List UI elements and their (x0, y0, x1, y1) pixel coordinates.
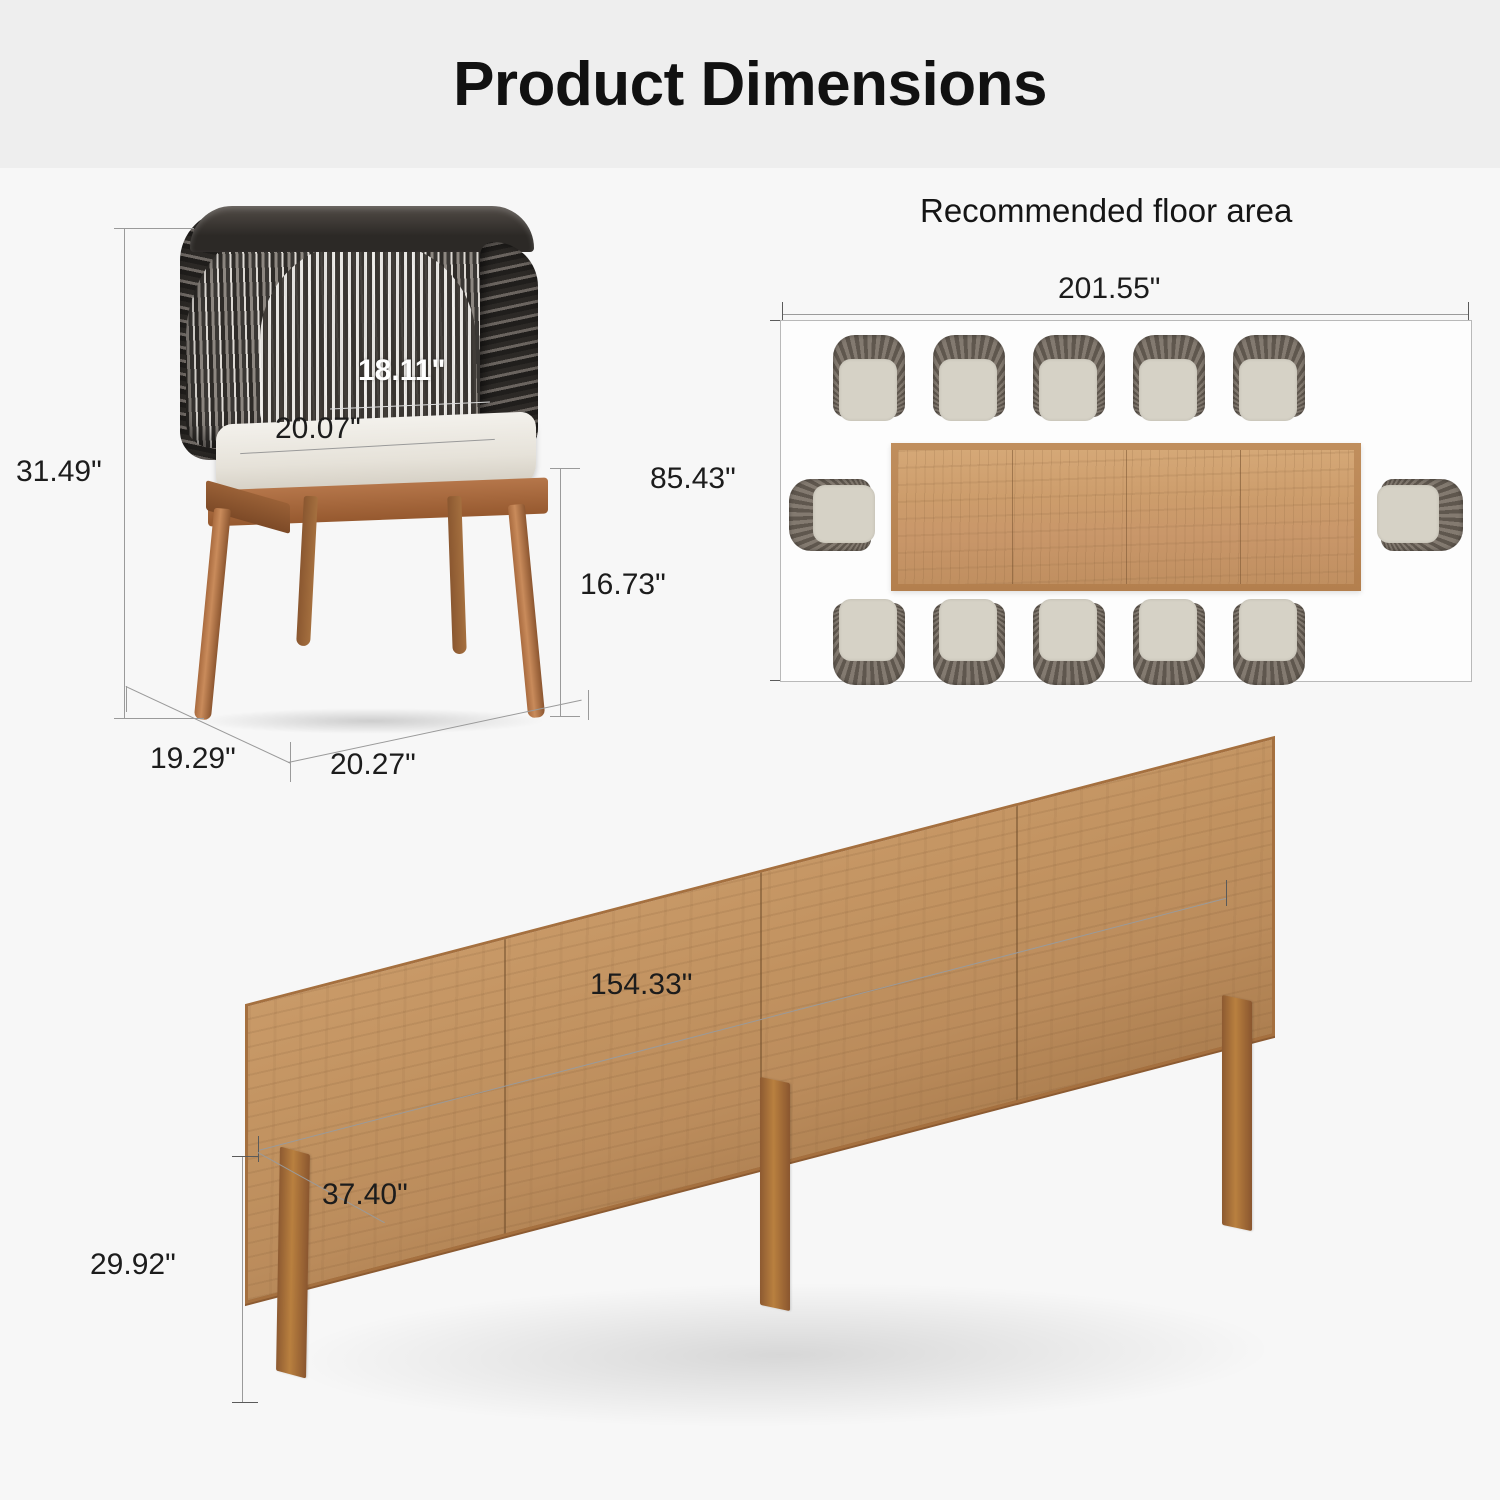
floor-chair-seat (1139, 599, 1197, 661)
floor-chair-seat (939, 599, 997, 661)
floor-area-plan (780, 320, 1472, 682)
floor-table-seam (1012, 450, 1013, 584)
floor-chair-left-1 (789, 479, 871, 551)
floor-width-label: 201.55" (1058, 272, 1160, 306)
chair-depth-label: 19.29" (150, 742, 236, 776)
floor-table-seam (1126, 450, 1127, 584)
table-leg-front-left (276, 1147, 310, 1379)
chair-footprint-right-tick (588, 690, 589, 720)
floor-chair-seat (1239, 359, 1297, 421)
floor-chair-right-1 (1381, 479, 1463, 551)
floor-chair-seat (1039, 359, 1097, 421)
floor-chair-top-3 (1033, 335, 1105, 417)
chair-leg-front-right (508, 504, 545, 719)
chair-seat-width-label: 20.07" (275, 412, 361, 446)
floor-chair-seat (839, 359, 897, 421)
chair-seat-height-tick-bottom (550, 716, 580, 717)
table-height-dimline (242, 1156, 243, 1402)
floor-table-top (891, 443, 1361, 591)
chair-height-tick-top (114, 228, 194, 229)
chair-rope-weave-inner (260, 242, 476, 427)
floor-area-title: Recommended floor area (920, 192, 1292, 230)
floor-chair-seat (1377, 485, 1439, 543)
floor-chair-bottom-5 (1233, 603, 1305, 685)
floor-chair-bottom-2 (933, 603, 1005, 685)
page-title: Product Dimensions (453, 49, 1047, 120)
table-width-label: 37.40" (322, 1178, 408, 1212)
table-length-tick-left (258, 1136, 259, 1162)
chair-seat-height-dimline (560, 468, 561, 716)
chair-height-dimline (124, 228, 125, 718)
floor-chair-top-4 (1133, 335, 1205, 417)
table-length-tick-right (1226, 880, 1227, 906)
floor-width-dimline (782, 314, 1468, 315)
chair-footprint-mid-tick (290, 742, 291, 782)
table-height-tick-bottom (232, 1402, 258, 1403)
floor-chair-bottom-1 (833, 603, 905, 685)
floor-chair-bottom-4 (1133, 603, 1205, 685)
chair-height-tick-bottom (114, 718, 204, 719)
chair-leg-back-right (447, 496, 467, 654)
floor-chair-seat (839, 599, 897, 661)
floor-chair-bottom-3 (1033, 603, 1105, 685)
floor-chair-seat (939, 359, 997, 421)
header-bar: Product Dimensions (0, 0, 1500, 168)
table-height-label: 29.92" (90, 1248, 176, 1282)
chair-footprint-left-tick (126, 686, 127, 712)
chair-back-height-label: 18.11" (358, 354, 446, 388)
floor-depth-label: 85.43" (650, 462, 736, 496)
chair-leg-front-left (194, 508, 231, 721)
table-leg-front-right (1222, 995, 1252, 1231)
floor-chair-top-1 (833, 335, 905, 417)
floor-chair-seat (1239, 599, 1297, 661)
floor-chair-seat (1139, 359, 1197, 421)
floor-chair-seat (1039, 599, 1097, 661)
chair-dimensions-section: 31.49" 20.07" 18.11" 16.73" 19.29" 20.27… (40, 190, 720, 810)
table-leg-front-middle (760, 1077, 790, 1311)
chair-top-rail (190, 206, 534, 252)
floor-table-surface (898, 450, 1354, 584)
floor-table-seam (1240, 450, 1241, 584)
table-length-label: 154.33" (590, 968, 692, 1002)
floor-chair-seat (813, 485, 875, 543)
chair-ground-shadow (196, 708, 546, 734)
chair-illustration (150, 200, 580, 740)
table-height-tick-top (232, 1156, 258, 1157)
floor-chair-top-2 (933, 335, 1005, 417)
chair-width-label: 20.27" (330, 748, 416, 782)
chair-seat-height-tick-top (550, 468, 580, 469)
recommended-floor-area-section: Recommended floor area 201.55" 85.43" (640, 180, 1490, 740)
floor-chair-top-5 (1233, 335, 1305, 417)
dining-table-section: 154.33" 37.40" 29.92" (150, 850, 1400, 1490)
chair-height-label: 31.49" (16, 455, 102, 489)
